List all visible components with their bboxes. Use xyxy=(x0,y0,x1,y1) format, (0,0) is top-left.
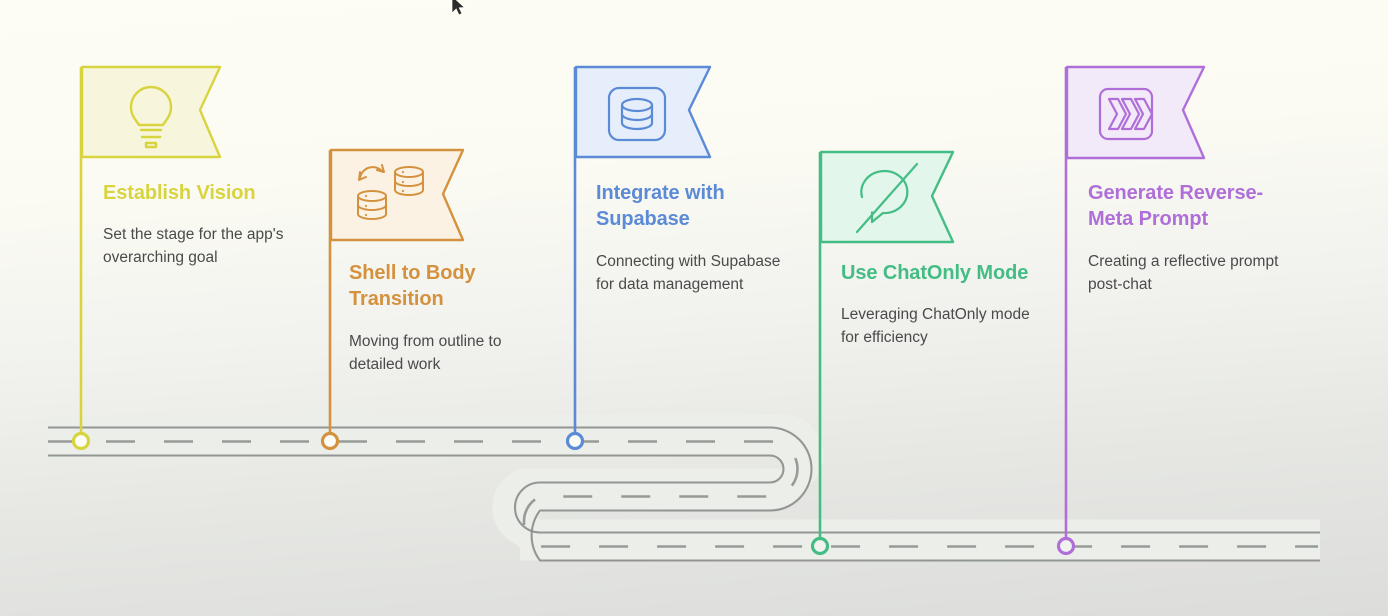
road-marker[interactable] xyxy=(813,539,828,554)
milestone-text-shell-to-body-transition: Shell to Body Transition Moving from out… xyxy=(349,260,549,377)
milestone-description: Connecting with Supabase for data manage… xyxy=(596,251,786,297)
flag-banner xyxy=(1067,67,1204,158)
milestone-text-generate-reverse-meta-prompt: Generate Reverse-Meta Prompt Creating a … xyxy=(1088,180,1288,297)
flag-banner xyxy=(331,150,463,240)
road-marker[interactable] xyxy=(1059,539,1074,554)
milestone-title: Integrate with Supabase xyxy=(596,180,786,233)
road-marker[interactable] xyxy=(323,434,338,449)
milestone-description: Leveraging ChatOnly mode for efficiency xyxy=(841,304,1041,350)
milestone-text-establish-vision: Establish Vision Set the stage for the a… xyxy=(103,180,303,270)
road-marker[interactable] xyxy=(74,434,89,449)
milestone-text-integrate-with-supabase: Integrate with Supabase Connecting with … xyxy=(596,180,786,297)
milestone-title: Shell to Body Transition xyxy=(349,260,549,313)
milestone-use-chatonly-mode[interactable] xyxy=(813,152,954,554)
milestone-description: Moving from outline to detailed work xyxy=(349,331,549,377)
roadmap-diagram xyxy=(0,0,1388,616)
milestone-description: Creating a reflective prompt post-chat xyxy=(1088,251,1288,297)
milestone-text-use-chatonly-mode: Use ChatOnly Mode Leveraging ChatOnly mo… xyxy=(841,260,1041,350)
milestone-generate-reverse-meta-prompt[interactable] xyxy=(1059,67,1205,554)
milestone-title: Establish Vision xyxy=(103,180,303,206)
road-path xyxy=(48,428,1320,588)
flag-banner xyxy=(576,67,710,157)
milestone-description: Set the stage for the app's overarching … xyxy=(103,224,303,270)
milestone-title: Generate Reverse-Meta Prompt xyxy=(1088,180,1288,233)
mouse-pointer-icon xyxy=(452,0,465,15)
milestone-title: Use ChatOnly Mode xyxy=(841,260,1041,286)
road-marker[interactable] xyxy=(568,434,583,449)
